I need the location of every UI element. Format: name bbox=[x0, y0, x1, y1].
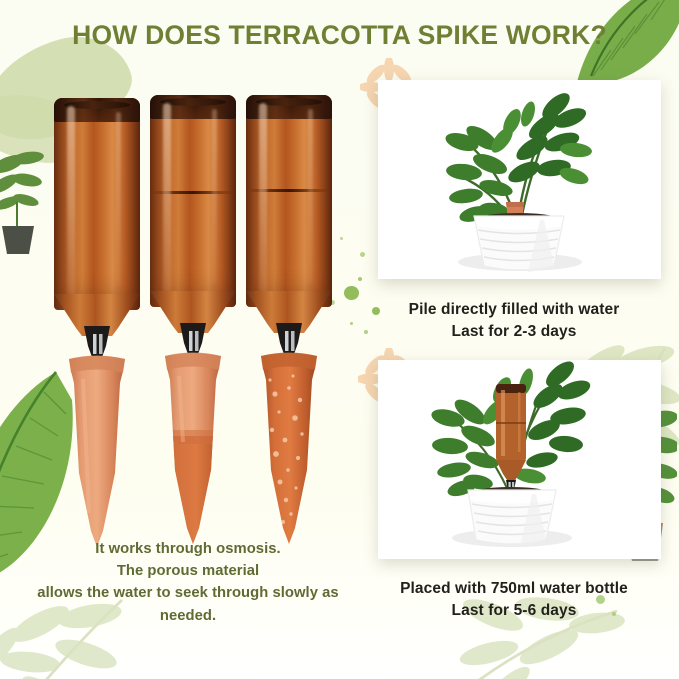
explanation-line-3: allows the water to seek through slowly … bbox=[14, 582, 362, 604]
paint-splatter-icon bbox=[358, 277, 362, 281]
caption-plant-with-spike: Pile directly filled with water Last for… bbox=[364, 299, 664, 343]
spike-stage-dry bbox=[54, 98, 140, 328]
explanation-line-2: The porous material bbox=[14, 560, 362, 582]
paint-splatter-icon bbox=[344, 286, 359, 300]
plant-with-bottle-illustration bbox=[378, 360, 661, 559]
amber-bottle-icon bbox=[246, 95, 332, 325]
caption-line-2: Last for 5-6 days bbox=[364, 600, 664, 622]
explanation-text: It works through osmosis. The porous mat… bbox=[14, 538, 362, 627]
spike-stage-partially-saturated bbox=[150, 95, 236, 325]
amber-bottle-icon bbox=[54, 98, 140, 328]
explanation-line-4: needed. bbox=[14, 605, 362, 627]
caption-line-1: Placed with 750ml water bottle bbox=[400, 580, 628, 597]
infographic-canvas: HOW DOES TERRACOTTA SPIKE WORK? bbox=[0, 0, 679, 679]
paint-splatter-icon bbox=[340, 237, 343, 240]
caption-plant-with-bottle: Placed with 750ml water bottle Last for … bbox=[364, 578, 664, 622]
page-title: HOW DOES TERRACOTTA SPIKE WORK? bbox=[0, 20, 679, 51]
terracotta-cone-partially-wet-icon bbox=[159, 350, 227, 546]
spike-stage-fully-saturated bbox=[246, 95, 332, 325]
photo-plant-with-bottle bbox=[378, 360, 661, 559]
caption-line-2: Last for 2-3 days bbox=[364, 321, 664, 343]
terracotta-cone-saturated-icon bbox=[255, 350, 323, 546]
photo-plant-with-spike bbox=[378, 80, 661, 279]
caption-line-1: Pile directly filled with water bbox=[409, 301, 620, 318]
paint-splatter-icon bbox=[350, 322, 353, 325]
paint-splatter-icon bbox=[360, 252, 365, 257]
explanation-line-1: It works through osmosis. bbox=[14, 538, 362, 560]
plant-photo-illustration bbox=[378, 80, 661, 279]
terracotta-cone-dry-icon bbox=[63, 353, 131, 549]
amber-bottle-icon bbox=[150, 95, 236, 325]
potted-plant-left-icon bbox=[0, 150, 52, 255]
